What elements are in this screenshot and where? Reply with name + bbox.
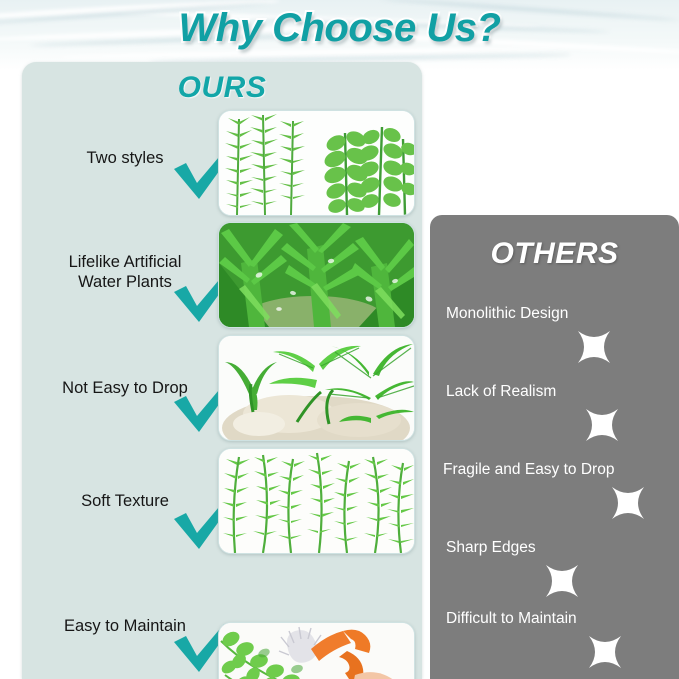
x-icon <box>585 632 625 672</box>
ours-row: Soft Texture <box>22 447 422 557</box>
soft-needle-stems-photo <box>218 448 415 554</box>
weighted-base-in-sand-photo <box>218 335 415 441</box>
ours-row: Easy to Maintain <box>22 560 422 670</box>
infographic-canvas: Why Choose Us? OURS Two styles <box>0 0 679 679</box>
others-item-label: Difficult to Maintain <box>446 610 577 628</box>
x-icon <box>582 405 622 445</box>
ours-heading: OURS <box>22 71 422 105</box>
others-item-label: Fragile and Easy to Drop <box>443 461 614 479</box>
ours-row: Two styles <box>22 107 422 217</box>
others-item-label: Sharp Edges <box>446 539 536 557</box>
page-title: Why Choose Us? <box>0 6 679 51</box>
cleaning-with-brush-photo <box>218 622 415 679</box>
others-item-label: Monolithic Design <box>446 305 568 323</box>
ours-panel: OURS Two styles <box>22 62 422 679</box>
x-icon <box>574 327 614 367</box>
x-icon <box>542 561 582 601</box>
two-plant-styles-photo <box>218 110 415 216</box>
ours-row: Lifelike Artificial Water Plants <box>22 220 422 330</box>
ours-row: Not Easy to Drop <box>22 334 422 444</box>
lifelike-leaves-closeup-photo <box>218 222 415 328</box>
others-panel: OTHERS Monolithic Design Lack of Realism… <box>430 215 679 679</box>
x-icon <box>608 483 648 523</box>
others-item-label: Lack of Realism <box>446 383 556 401</box>
others-heading: OTHERS <box>430 237 679 271</box>
